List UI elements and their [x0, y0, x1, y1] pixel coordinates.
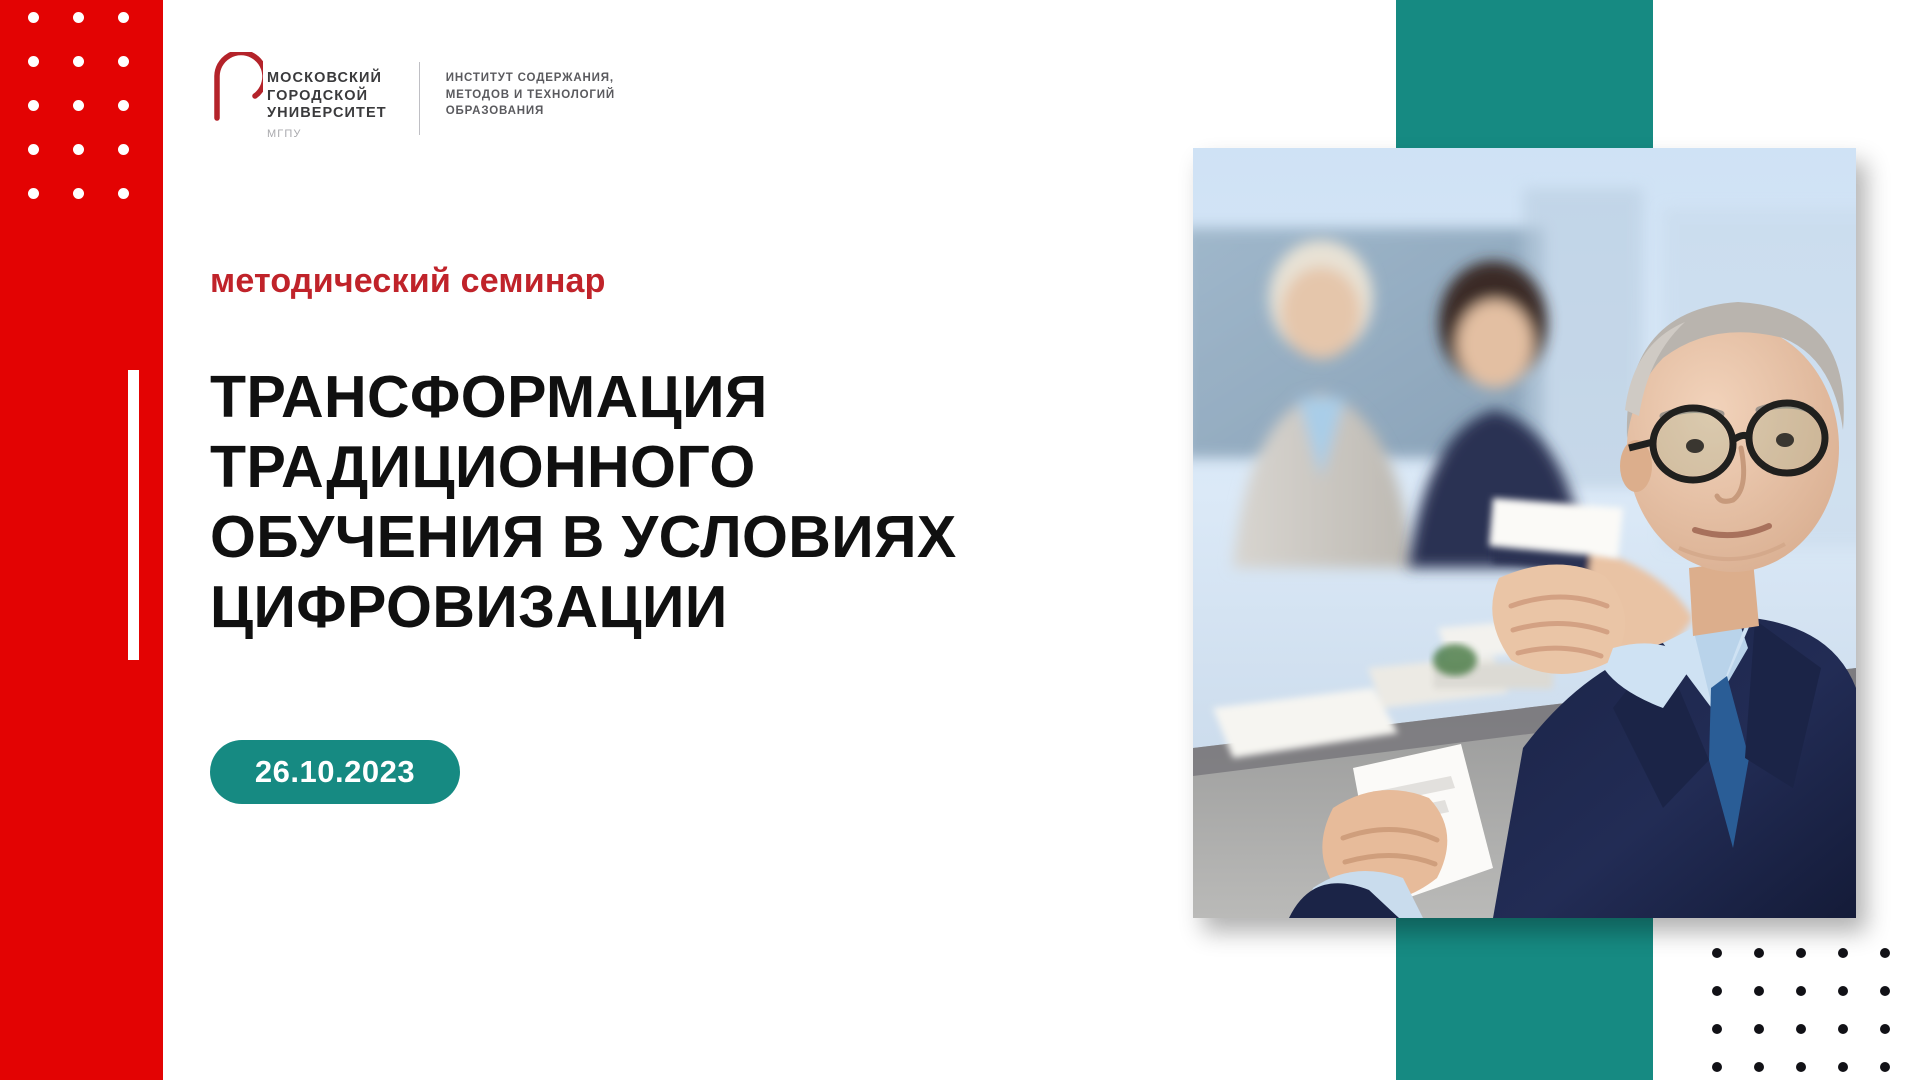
logo-abbreviation: МГПУ — [267, 126, 387, 144]
dot — [28, 12, 39, 23]
dot — [118, 144, 129, 155]
dot — [73, 12, 84, 23]
left-red-sidebar — [0, 0, 163, 1080]
dot — [1712, 986, 1722, 996]
dot — [1754, 1024, 1764, 1034]
dot — [1838, 1024, 1848, 1034]
logo-university-name: МОСКОВСКИЙ ГОРОДСКОЙ УНИВЕРСИТЕТ МГПУ — [267, 52, 387, 143]
dot — [118, 100, 129, 111]
date-badge: 26.10.2023 — [210, 740, 460, 804]
logo-institute-line-3: ОБРАЗОВАНИЯ — [446, 105, 544, 117]
page-title: ТРАНСФОРМАЦИЯ ТРАДИЦИОННОГО ОБУЧЕНИЯ В У… — [210, 362, 1170, 642]
event-type-kicker: методический семинар — [210, 262, 606, 301]
dot — [1754, 1062, 1764, 1072]
dot — [28, 100, 39, 111]
title-line-1: ТРАНСФОРМАЦИЯ — [210, 362, 1170, 432]
logo-institute-name: ИНСТИТУТ СОДЕРЖАНИЯ, МЕТОДОВ И ТЕХНОЛОГИ… — [446, 52, 615, 120]
dot — [73, 100, 84, 111]
dot — [28, 188, 39, 199]
title-line-2: ТРАДИЦИОННОГО — [210, 432, 1170, 502]
dot — [1838, 948, 1848, 958]
presentation-slide: МОСКОВСКИЙ ГОРОДСКОЙ УНИВЕРСИТЕТ МГПУ ИН… — [0, 0, 1920, 1080]
logo-institute-line-1: ИНСТИТУТ СОДЕРЖАНИЯ, — [446, 72, 614, 84]
dot — [1796, 1024, 1806, 1034]
dot — [1754, 948, 1764, 958]
logo-institute-line-2: МЕТОДОВ И ТЕХНОЛОГИЙ — [446, 89, 615, 101]
dot — [1754, 986, 1764, 996]
dot — [73, 188, 84, 199]
dot — [1712, 1062, 1722, 1072]
dot — [1880, 948, 1890, 958]
dot — [1838, 986, 1848, 996]
dot — [118, 188, 129, 199]
title-line-4: ЦИФРОВИЗАЦИИ — [210, 572, 1170, 642]
dot — [1796, 1062, 1806, 1072]
dot — [28, 56, 39, 67]
left-dot-grid — [28, 12, 148, 242]
mgpu-arc-logo-icon — [205, 52, 263, 124]
dot — [1880, 1062, 1890, 1072]
dot — [1712, 948, 1722, 958]
title-accent-line — [128, 370, 139, 660]
dot — [28, 144, 39, 155]
dot — [1880, 1024, 1890, 1034]
seminar-photo — [1193, 148, 1856, 918]
dot — [118, 56, 129, 67]
dot — [73, 56, 84, 67]
dot — [73, 144, 84, 155]
dot — [1712, 1024, 1722, 1034]
title-line-3: ОБУЧЕНИЯ В УСЛОВИЯХ — [210, 502, 1170, 572]
dot — [1796, 986, 1806, 996]
mgpu-logo: МОСКОВСКИЙ ГОРОДСКОЙ УНИВЕРСИТЕТ МГПУ ИН… — [205, 52, 615, 143]
bottom-right-dot-grid — [1712, 948, 1888, 1068]
logo-name-line-2: ГОРОДСКОЙ — [267, 88, 368, 104]
dot — [118, 12, 129, 23]
logo-divider — [419, 62, 420, 135]
logo-name-line-1: МОСКОВСКИЙ — [267, 70, 382, 86]
dot — [1838, 1062, 1848, 1072]
dot — [1880, 986, 1890, 996]
logo-name-line-3: УНИВЕРСИТЕТ — [267, 105, 387, 121]
dot — [1796, 948, 1806, 958]
